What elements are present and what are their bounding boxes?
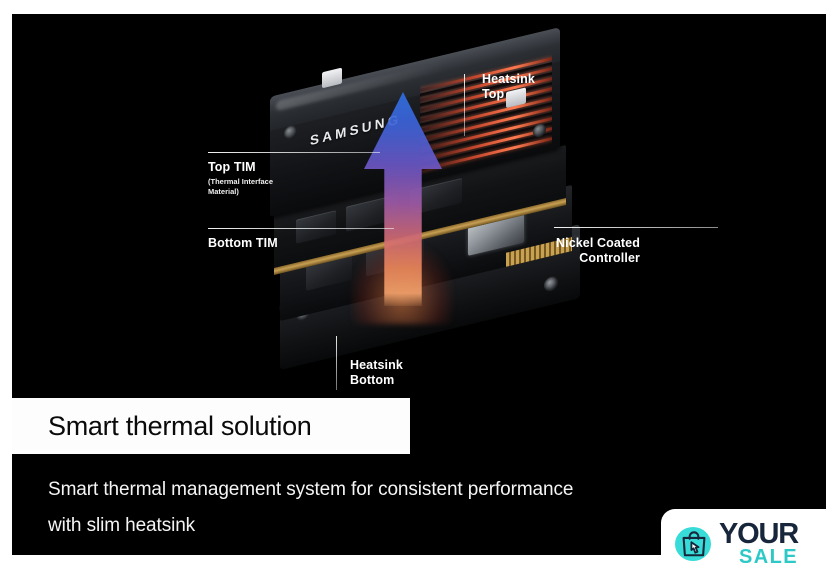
headline-banner: Smart thermal solution: [12, 398, 410, 454]
callout-title: Bottom TIM: [208, 236, 278, 251]
callout-heatsink-top: Heatsink Top: [482, 72, 535, 102]
leader-line: [554, 227, 718, 228]
callout-nickel-coated-controller: Nickel Coated Controller: [556, 236, 640, 266]
callout-top-tim: Top TIM (Thermal Interface Material): [208, 160, 273, 196]
callout-title: Nickel Coated Controller: [556, 236, 640, 266]
shopping-bag-cursor-icon: [673, 523, 717, 565]
leader-line: [336, 336, 337, 390]
body-line-2: with slim heatsink: [48, 508, 748, 544]
body-copy: Smart thermal management system for cons…: [48, 472, 748, 544]
leader-line: [464, 74, 465, 136]
watermark-text: YOUR SALE: [719, 520, 798, 567]
screw-hole: [544, 275, 558, 292]
body-line-1: Smart thermal management system for cons…: [48, 472, 748, 508]
headline-text: Smart thermal solution: [48, 411, 312, 442]
callout-title: Top TIM: [208, 160, 273, 175]
callout-subtitle: (Thermal Interface Material): [208, 177, 273, 196]
callout-heatsink-bottom: Heatsink Bottom: [350, 358, 403, 388]
nand-chip: [296, 210, 336, 244]
image-canvas: SAMSUNG: [0, 0, 840, 578]
leader-line: [208, 152, 380, 153]
leader-line: [208, 228, 394, 229]
callout-title: Heatsink Bottom: [350, 358, 403, 388]
watermark-secondary: SALE: [719, 547, 798, 567]
watermark-primary: YOUR: [719, 520, 798, 549]
callout-title: Heatsink Top: [482, 72, 535, 102]
product-illustration: SAMSUNG: [12, 14, 826, 394]
callout-bottom-tim: Bottom TIM: [208, 236, 278, 251]
yoursale-watermark: YOUR SALE: [661, 509, 840, 578]
bag-cursor-glyph: [680, 531, 708, 557]
product-panel: SAMSUNG: [12, 14, 826, 555]
